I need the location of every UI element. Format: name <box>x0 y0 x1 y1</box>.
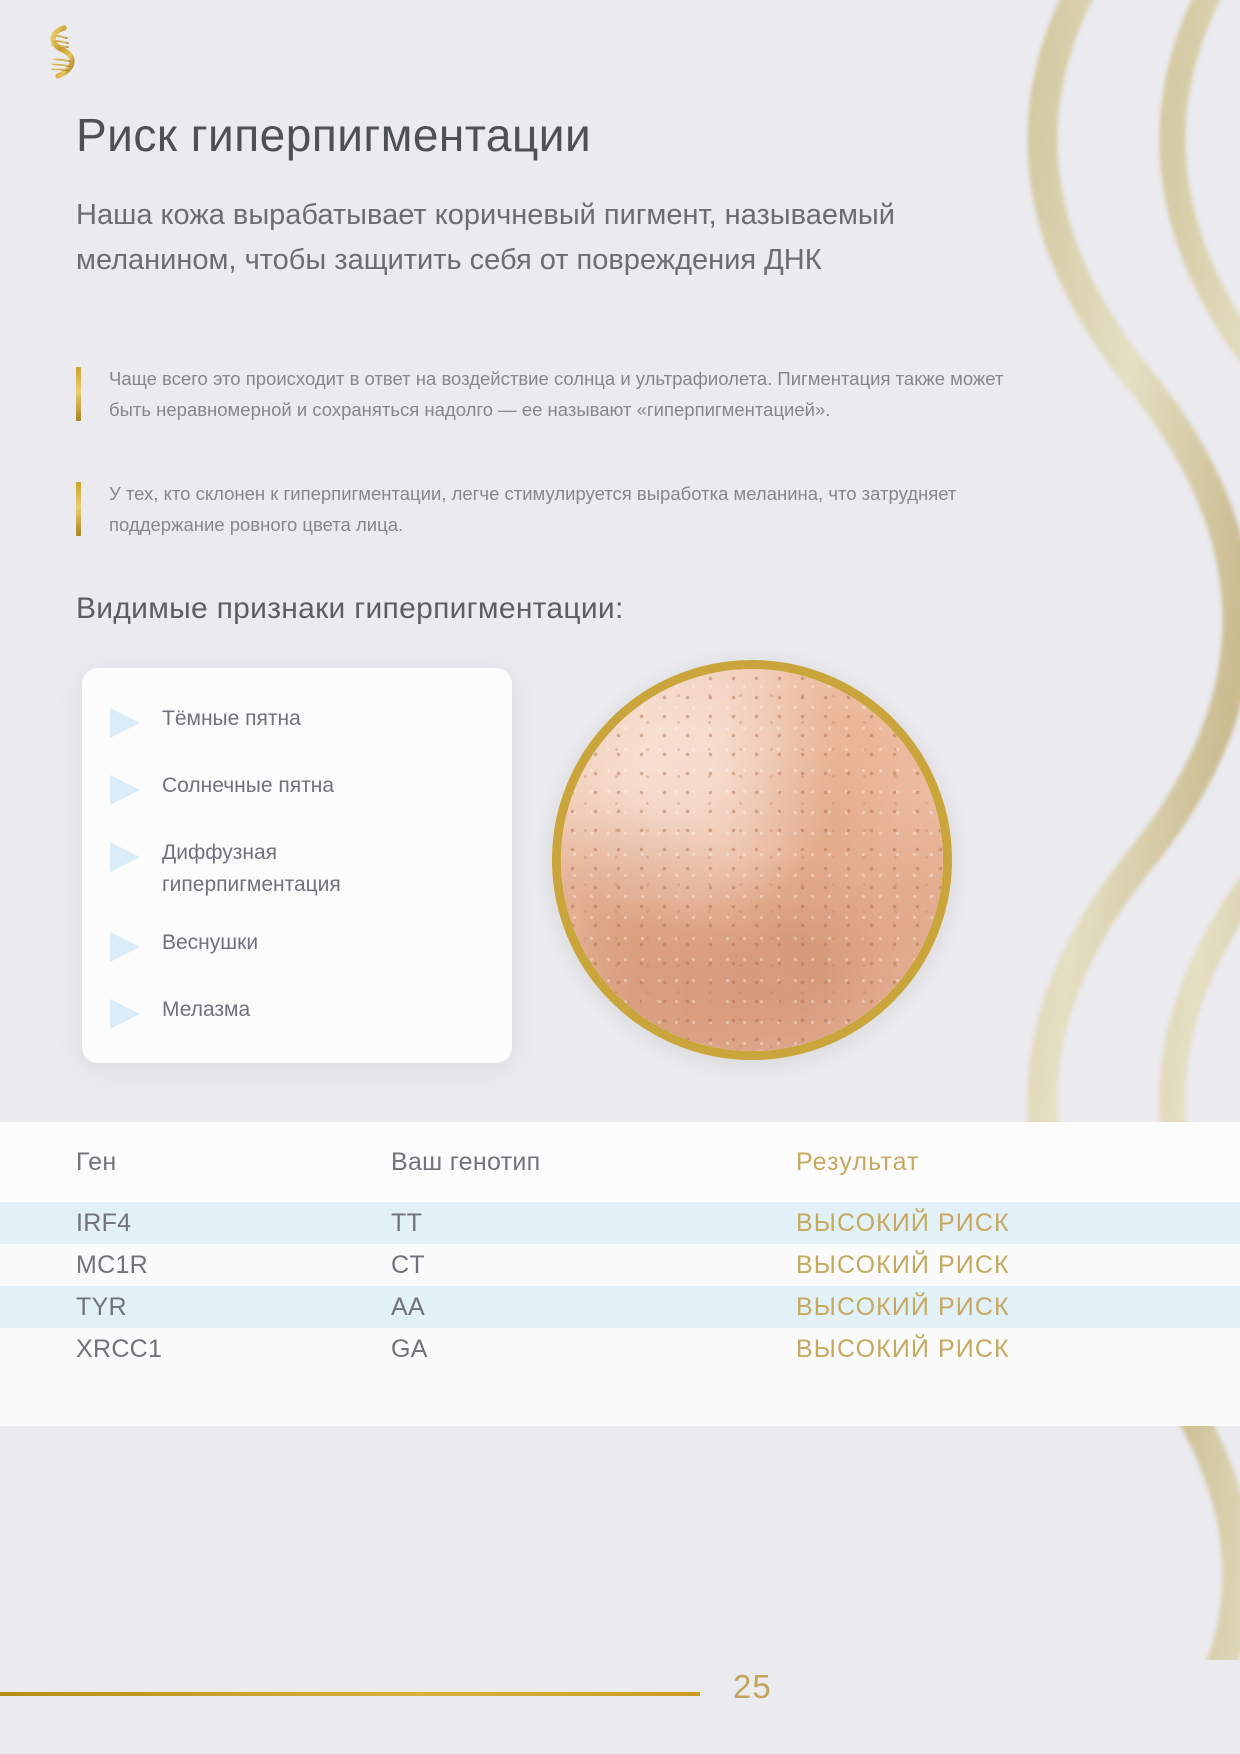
report-page: Риск гиперпигментации Наша кожа вырабаты… <box>0 0 1240 1754</box>
list-item: Солнечные пятна <box>82 769 512 811</box>
triangle-right-icon <box>110 999 140 1029</box>
cell-gene: XRCC1 <box>76 1335 391 1364</box>
cell-genotype: TT <box>391 1209 796 1238</box>
cell-gene: TYR <box>76 1293 391 1322</box>
footer-divider <box>0 1692 700 1696</box>
skin-hyperpigmentation-photo <box>552 660 952 1060</box>
sign-label: Солнечные пятна <box>162 769 334 802</box>
triangle-right-icon <box>110 708 140 738</box>
table-row: IRF4 TT ВЫСОКИЙ РИСК <box>0 1202 1240 1244</box>
list-item: Тёмные пятна <box>82 702 512 744</box>
list-item: Мелазма <box>82 993 512 1035</box>
signs-section-title: Видимые признаки гиперпигментации: <box>76 592 624 626</box>
status-badge: ВЫСОКИЙ РИСК <box>796 1209 1240 1238</box>
genotype-results-table: Ген Ваш генотип Результат IRF4 TT ВЫСОКИ… <box>0 1122 1240 1426</box>
visible-signs-card: Тёмные пятна Солнечные пятна Диффузная г… <box>82 668 512 1063</box>
status-badge: ВЫСОКИЙ РИСК <box>796 1293 1240 1322</box>
page-title: Риск гиперпигментации <box>76 108 591 162</box>
sign-label: Мелазма <box>162 993 250 1026</box>
triangle-right-icon <box>110 842 140 872</box>
triangle-right-icon <box>110 932 140 962</box>
column-header-result: Результат <box>796 1148 1240 1177</box>
page-number: 25 <box>733 1668 772 1706</box>
cell-gene: IRF4 <box>76 1209 391 1238</box>
sign-label: Веснушки <box>162 926 258 959</box>
status-badge: ВЫСОКИЙ РИСК <box>796 1335 1240 1364</box>
sign-label: Диффузная гиперпигментация <box>162 836 452 901</box>
cell-gene: MC1R <box>76 1251 391 1280</box>
table-bottom-spacer <box>0 1370 1240 1426</box>
column-header-gene: Ген <box>76 1148 391 1177</box>
cell-genotype: GA <box>391 1335 796 1364</box>
list-item: Веснушки <box>82 926 512 968</box>
note-block-2: У тех, кто склонен к гиперпигментации, л… <box>76 478 1006 540</box>
sign-label: Тёмные пятна <box>162 702 301 735</box>
cell-genotype: CT <box>391 1251 796 1280</box>
table-row: TYR AA ВЫСОКИЙ РИСК <box>0 1286 1240 1328</box>
note-block-1: Чаще всего это происходит в ответ на воз… <box>76 363 1006 425</box>
cell-genotype: AA <box>391 1293 796 1322</box>
column-header-genotype: Ваш генотип <box>391 1148 796 1177</box>
status-badge: ВЫСОКИЙ РИСК <box>796 1251 1240 1280</box>
table-row: MC1R CT ВЫСОКИЙ РИСК <box>0 1244 1240 1286</box>
dna-helix-logo <box>36 22 82 84</box>
triangle-right-icon <box>110 775 140 805</box>
lede-paragraph: Наша кожа вырабатывает коричневый пигмен… <box>76 193 956 283</box>
photo-speckle-overlay <box>561 669 943 1051</box>
list-item: Диффузная гиперпигментация <box>82 836 512 901</box>
table-header-row: Ген Ваш генотип Результат <box>0 1122 1240 1202</box>
table-row: XRCC1 GA ВЫСОКИЙ РИСК <box>0 1328 1240 1370</box>
